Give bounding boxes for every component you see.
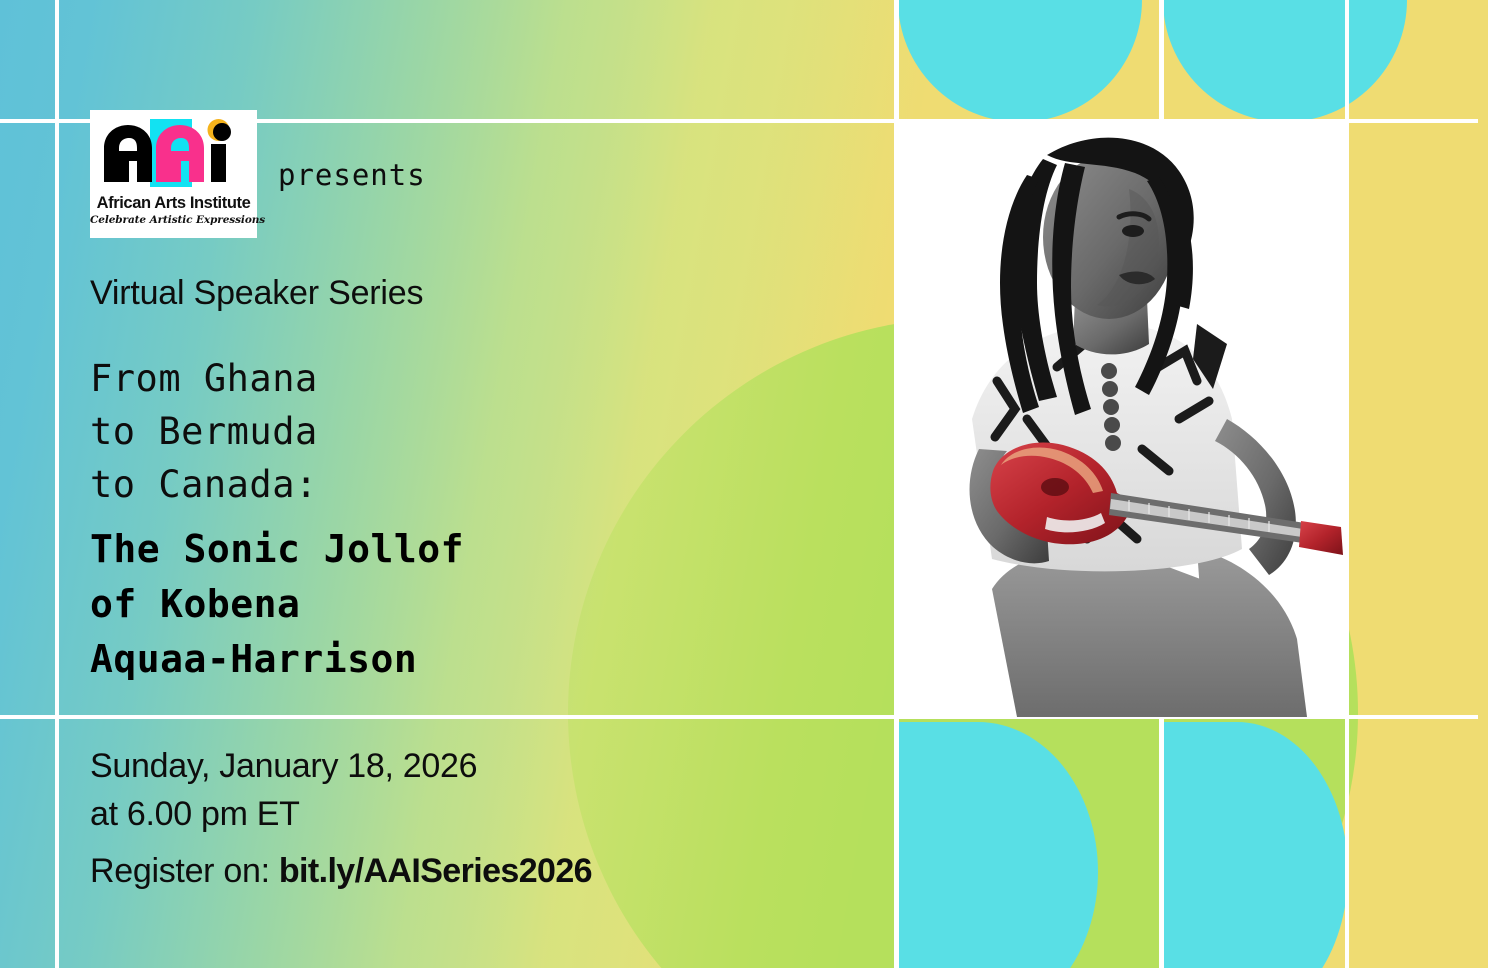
speaker-photo	[897, 119, 1347, 717]
register-link[interactable]: bit.ly/AAISeries2026	[279, 852, 592, 890]
grid-line-vertical-left	[55, 0, 59, 968]
event-poster: African Arts Institute Celebrate Artisti…	[0, 0, 1488, 968]
aai-logomark-icon	[90, 114, 257, 192]
talk-title: The Sonic Jollof of Kobena Aquaa-Harriso…	[90, 522, 464, 687]
register-row: Register on: bit.ly/AAISeries2026	[90, 852, 592, 891]
logo-name: African Arts Institute	[90, 194, 257, 213]
aai-logo: African Arts Institute Celebrate Artisti…	[90, 110, 257, 238]
talk-pretitle: From Ghana to Bermuda to Canada:	[90, 352, 318, 511]
series-label: Virtual Speaker Series	[90, 274, 423, 313]
register-prefix: Register on:	[90, 852, 279, 890]
event-datetime: Sunday, January 18, 2026 at 6.00 pm ET	[90, 742, 477, 838]
logo-tagline: Celebrate Artistic Expressions	[90, 214, 257, 226]
speaker-photo-panel	[897, 119, 1347, 717]
presents-label: presents	[278, 158, 426, 192]
